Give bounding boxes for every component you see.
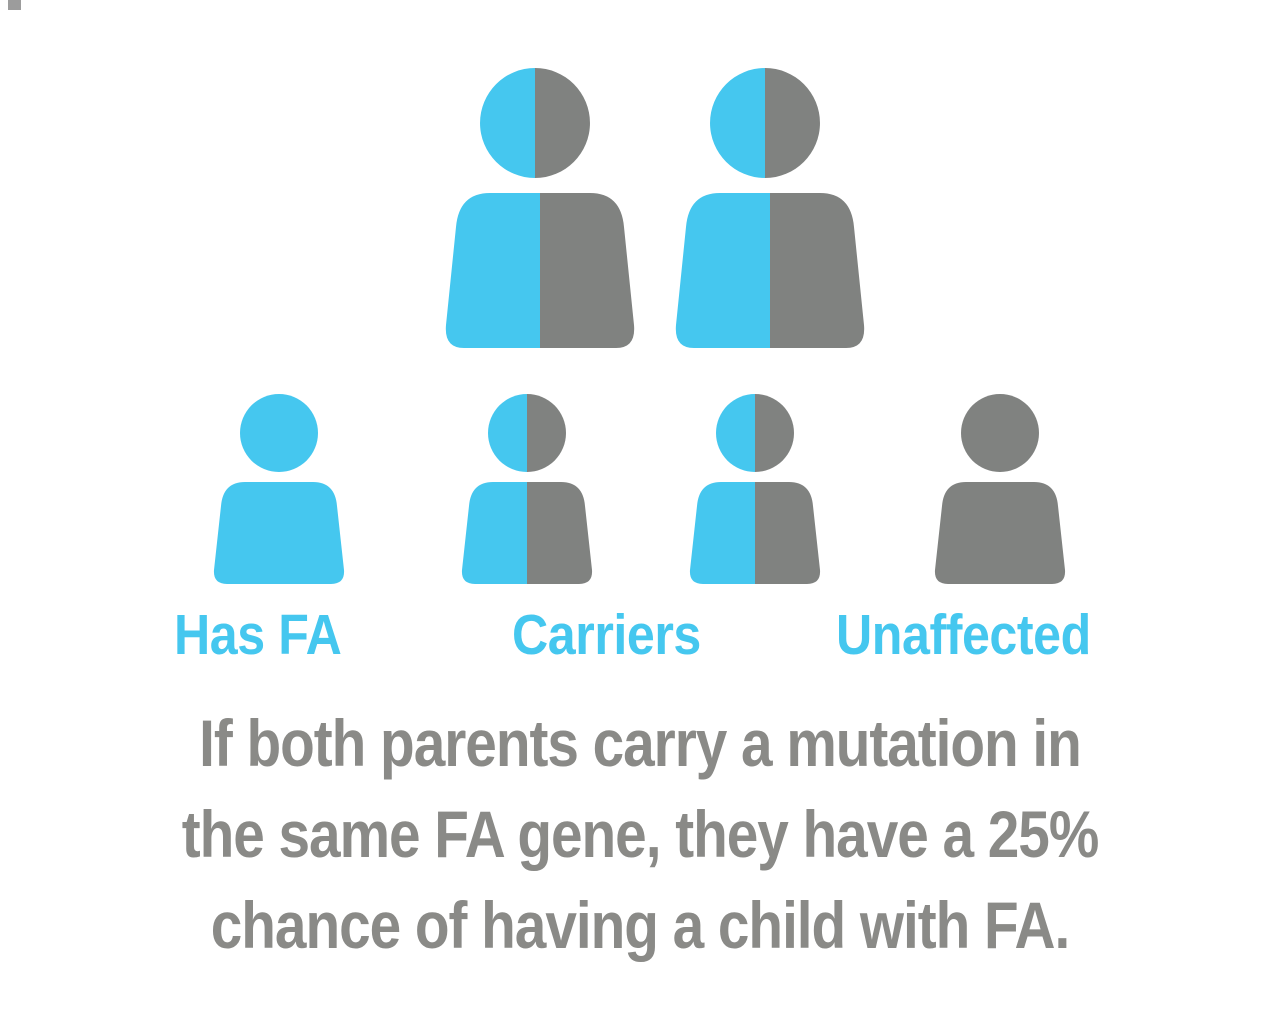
caption-line-2: the same FA gene, they have a 25% — [90, 789, 1191, 880]
person-head-icon — [480, 68, 590, 178]
person-figure-child-1-has-fa — [213, 394, 345, 590]
caption-text: If both parents carry a mutation in the … — [0, 698, 1280, 971]
person-body-icon — [675, 193, 865, 348]
caption-line-1: If both parents carry a mutation in — [90, 698, 1191, 789]
person-body-icon — [689, 482, 821, 584]
person-body-icon — [445, 193, 635, 348]
children-generation-row — [0, 380, 1280, 590]
inheritance-infographic: Has FA Carriers Unaffected If both paren… — [0, 0, 1280, 1010]
person-body-icon — [213, 482, 345, 584]
legend-label-unaffected: Unaffected — [836, 604, 1091, 666]
caption-line-3: chance of having a child with FA. — [90, 880, 1191, 971]
person-body-icon — [461, 482, 593, 584]
person-head-icon — [716, 394, 794, 472]
person-figure-child-2-carrier — [461, 394, 593, 590]
parents-generation-row — [0, 0, 1280, 370]
legend-label-has-fa: Has FA — [174, 604, 341, 666]
person-head-icon — [961, 394, 1039, 472]
person-figure-parent-2-carrier — [675, 68, 865, 348]
person-head-icon — [240, 394, 318, 472]
person-head-icon — [710, 68, 820, 178]
person-figure-parent-1-carrier — [445, 68, 635, 348]
person-head-icon — [488, 394, 566, 472]
person-figure-child-4-unaffected — [934, 394, 1066, 590]
legend-label-carriers: Carriers — [512, 604, 701, 666]
person-figure-child-3-carrier — [689, 394, 821, 590]
person-body-icon — [934, 482, 1066, 584]
legend: Has FA Carriers Unaffected — [0, 604, 1280, 680]
